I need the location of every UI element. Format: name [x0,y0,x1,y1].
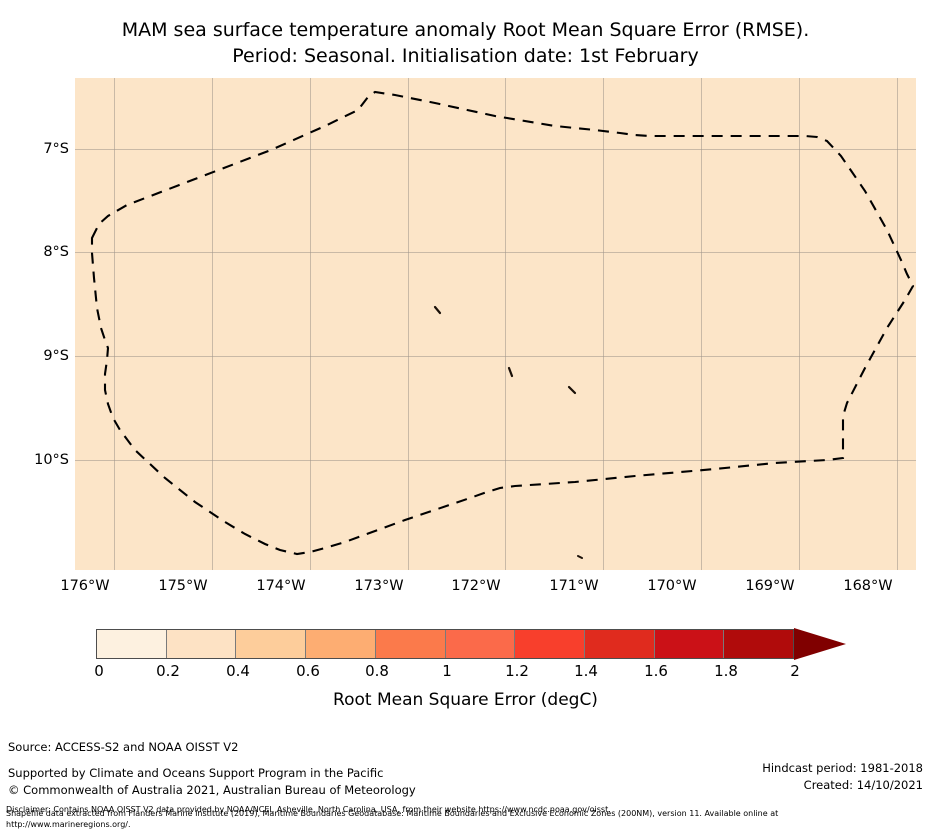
map-figure [75,78,916,570]
colorbar-extend-arrow-icon [794,628,846,660]
footer-support-block: Supported by Climate and Oceans Support … [8,765,416,798]
y-tick-label: 9°S [9,348,69,364]
y-tick-label: 10°S [9,452,69,468]
y-axis-tick-labels: 7°S 8°S 9°S 10°S [5,78,69,570]
x-tick-label: 176°W [40,578,130,594]
colorbar-segment [167,630,237,658]
footer-supported-line: Supported by Climate and Oceans Support … [8,765,416,782]
footer-created-date: Created: 14/10/2021 [762,777,923,794]
colorbar-segment [97,630,167,658]
island-atoll-icon [569,387,575,393]
x-tick-label: 174°W [236,578,326,594]
x-axis-tick-labels: 176°W 175°W 174°W 173°W 172°W 171°W 170°… [75,578,916,600]
colorbar-tick-label: 0.4 [208,662,268,680]
colorbar-segment [236,630,306,658]
footer-copyright-line: © Commonwealth of Australia 2021, Austra… [8,782,416,799]
colorbar-gradient-strip [96,629,794,659]
colorbar-axis-label: Root Mean Square Error (degC) [0,690,931,710]
x-tick-label: 171°W [529,578,619,594]
colorbar-tick-labels: 0 0.2 0.4 0.6 0.8 1 1.2 1.4 1.6 1.8 2 [96,662,846,684]
colorbar-tick-label: 0.6 [278,662,338,680]
title-line-1: MAM sea surface temperature anomaly Root… [0,18,931,44]
island-atoll-icon [509,368,512,376]
footer-source: Source: ACCESS-S2 and NOAA OISST V2 [8,740,238,754]
island-atoll-icon [578,556,582,558]
colorbar-segment [585,630,655,658]
colorbar-tick-label: 0.2 [138,662,198,680]
x-tick-label: 172°W [431,578,521,594]
colorbar-tick-label: 0.8 [347,662,407,680]
x-tick-label: 169°W [725,578,815,594]
island-atoll-icon [435,307,440,313]
title-line-2: Period: Seasonal. Initialisation date: 1… [0,44,931,70]
colorbar-segment [376,630,446,658]
colorbar-segment [724,630,793,658]
colorbar-segment [306,630,376,658]
page-title: MAM sea surface temperature anomaly Root… [0,18,931,69]
colorbar-tick-label: 1.8 [696,662,756,680]
colorbar-tick-label: 1 [417,662,477,680]
x-tick-label: 175°W [138,578,228,594]
footer-hindcast-period: Hindcast period: 1981-2018 [762,760,923,777]
colorbar [96,629,846,659]
colorbar-tick-label: 1.4 [556,662,616,680]
colorbar-tick-label: 1.6 [626,662,686,680]
footer-right-block: Hindcast period: 1981-2018 Created: 14/1… [762,760,923,793]
footer-shapefile-line-2: http://www.marineregions.org/. [6,820,926,831]
colorbar-tick-label: 0 [69,662,129,680]
x-tick-label: 173°W [334,578,424,594]
colorbar-segment [446,630,516,658]
eez-boundary-path [92,92,913,554]
footer-shapefile-line-1: Shapefile data extracted from Flanders M… [6,809,926,820]
colorbar-segment [515,630,585,658]
colorbar-tick-label: 1.2 [487,662,547,680]
colorbar-segment [655,630,725,658]
footer-shapefile-attribution: Shapefile data extracted from Flanders M… [6,809,926,831]
eez-boundary-overlay [75,78,916,570]
colorbar-tick-label: 2 [765,662,825,680]
x-tick-label: 170°W [627,578,717,594]
y-tick-label: 7°S [9,141,69,157]
map-plot-area [75,78,916,570]
x-tick-label: 168°W [823,578,913,594]
y-tick-label: 8°S [9,244,69,260]
